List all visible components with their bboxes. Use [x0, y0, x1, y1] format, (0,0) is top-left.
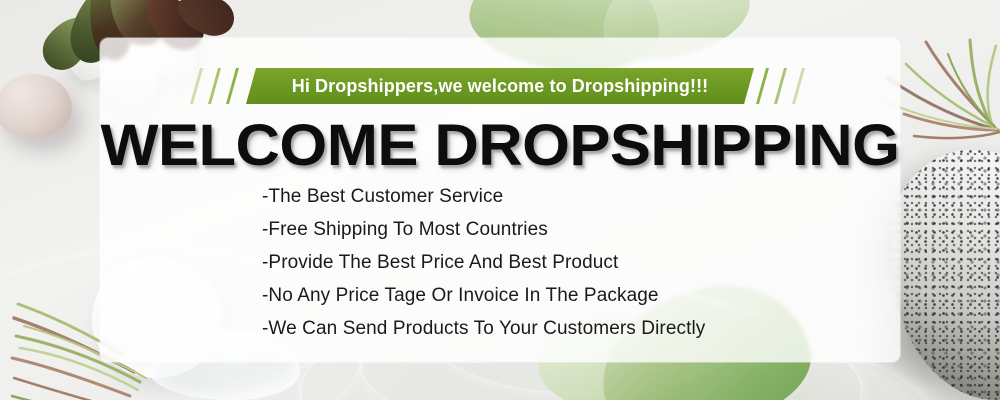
list-item: -Free Shipping To Most Countries: [262, 213, 882, 246]
stripe-light-icon: [792, 68, 805, 104]
headline: WELCOME DROPSHIPPING: [0, 112, 1000, 179]
ribbon: Hi Dropshippers,we welcome to Dropshippi…: [190, 66, 810, 106]
stripe-dark-icon: [756, 68, 769, 104]
stripe-dark-icon: [226, 68, 239, 104]
list-item: -Provide The Best Price And Best Product: [262, 246, 882, 279]
stripe-medium-icon: [208, 68, 221, 104]
ribbon-stripes-left: [190, 68, 239, 104]
list-item: -The Best Customer Service: [262, 180, 882, 213]
feature-list: -The Best Customer Service -Free Shippin…: [262, 180, 882, 345]
stripe-medium-icon: [774, 68, 787, 104]
ribbon-stripes-right: [756, 68, 805, 104]
promo-banner: Hi Dropshippers,we welcome to Dropshippi…: [0, 0, 1000, 400]
list-item: -We Can Send Products To Your Customers …: [262, 312, 882, 345]
list-item: -No Any Price Tage Or Invoice In The Pac…: [262, 279, 882, 312]
stripe-light-icon: [190, 68, 203, 104]
ribbon-text: Hi Dropshippers,we welcome to Dropshippi…: [246, 68, 754, 104]
